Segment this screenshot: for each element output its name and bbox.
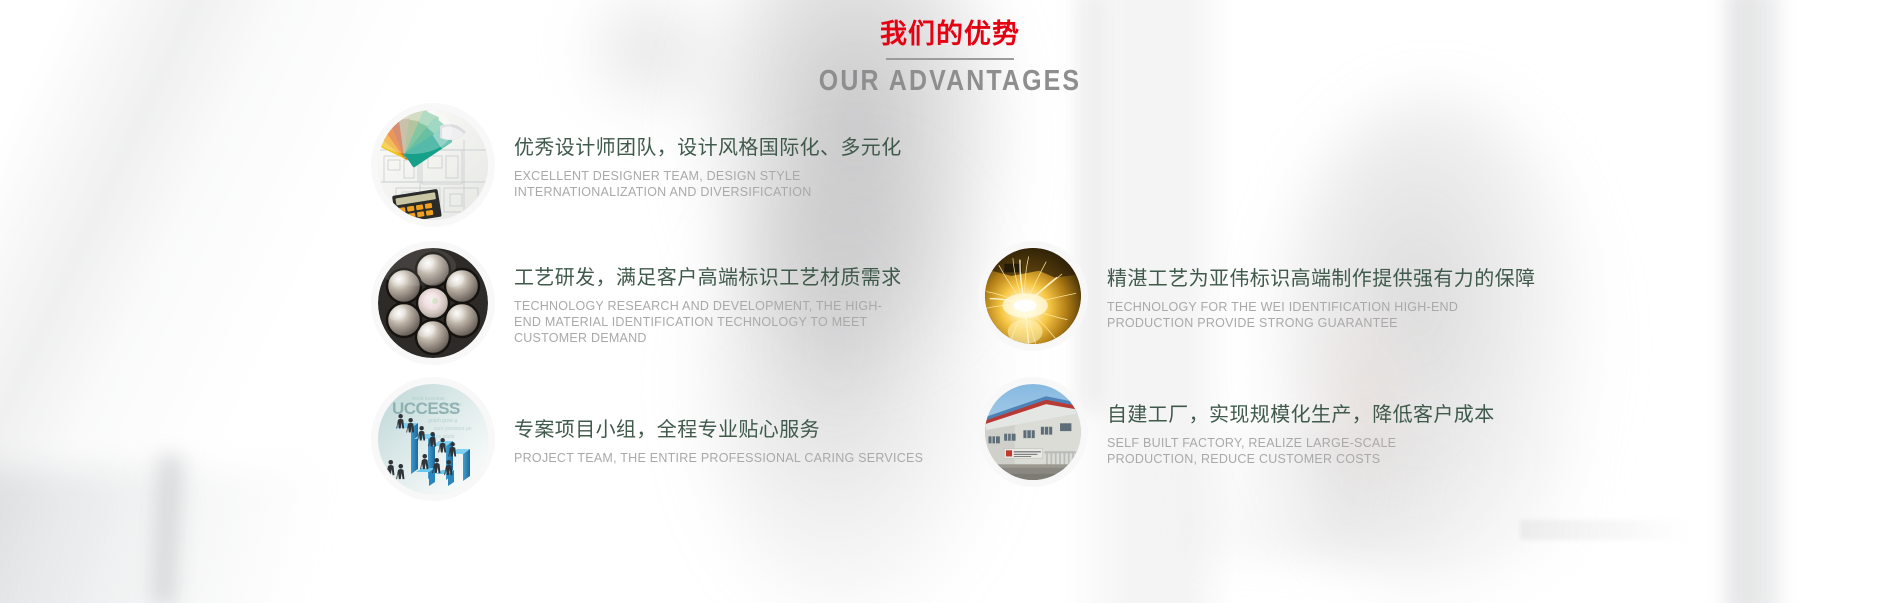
advantage-text-block: 精湛工艺为亚伟标识高端制作提供强有力的保障 TECHNOLOGY FOR THE… — [1081, 262, 1535, 331]
svg-text:sure pressure pe: sure pressure pe — [434, 426, 472, 432]
advantage-item[interactable]: trend business corporate finance fl grap… — [378, 384, 898, 494]
advantage-text-block: 优秀设计师团队，设计风格国际化、多元化 EXCELLENT DESIGNER T… — [488, 131, 902, 200]
advantage-title: 自建工厂，实现规模化生产，降低客户成本 — [1107, 400, 1495, 428]
metal-tubes-icon — [378, 248, 488, 358]
advantage-text-block: 工艺研发，满足客户高端标识工艺材质需求 TECHNOLOGY RESEARCH … — [488, 261, 902, 346]
advantage-title: 工艺研发，满足客户高端标识工艺材质需求 — [514, 263, 902, 291]
advantage-subtitle: TECHNOLOGY FOR THE WEI IDENTIFICATION HI… — [1107, 299, 1467, 331]
color-swatch-blueprint-icon — [378, 110, 488, 220]
advantage-item[interactable]: 优秀设计师团队，设计风格国际化、多元化 EXCELLENT DESIGNER T… — [378, 110, 898, 220]
title-divider — [886, 58, 1014, 60]
bar-chart-business-icon: trend business corporate finance fl grap… — [378, 384, 488, 494]
welding-sparks-icon — [985, 248, 1081, 344]
svg-text:ps statis: ps statis — [436, 434, 455, 440]
advantage-subtitle: TECHNOLOGY RESEARCH AND DEVELOPMENT, THE… — [514, 298, 886, 346]
factory-building-icon — [985, 384, 1081, 480]
advantage-text-block: 自建工厂，实现规模化生产，降低客户成本 SELF BUILT FACTORY, … — [1081, 398, 1495, 467]
advantage-subtitle: EXCELLENT DESIGNER TEAM, DESIGN STYLE IN… — [514, 168, 886, 200]
advantage-title: 精湛工艺为亚伟标识高端制作提供强有力的保障 — [1107, 264, 1535, 292]
advantage-title: 优秀设计师团队，设计风格国际化、多元化 — [514, 133, 902, 161]
advantage-item[interactable]: 自建工厂，实现规模化生产，降低客户成本 SELF BUILT FACTORY, … — [985, 384, 1505, 480]
advantage-subtitle: SELF BUILT FACTORY, REALIZE LARGE-SCALE … — [1107, 435, 1467, 467]
advantage-title: 专案项目小组，全程专业贴心服务 — [514, 415, 923, 443]
advantages-section: 我们的优势 OUR ADVANTAGES — [0, 0, 1900, 603]
section-title-chinese: 我们的优势 — [0, 18, 1900, 52]
advantage-text-block: 专案项目小组，全程专业贴心服务 PROJECT TEAM, THE ENTIRE… — [488, 413, 923, 466]
advantage-subtitle: PROJECT TEAM, THE ENTIRE PROFESSIONAL CA… — [514, 450, 923, 466]
section-title-english: OUR ADVANTAGES — [133, 64, 1767, 98]
section-header: 我们的优势 OUR ADVANTAGES — [0, 18, 1900, 98]
advantage-item[interactable]: 精湛工艺为亚伟标识高端制作提供强有力的保障 TECHNOLOGY FOR THE… — [985, 248, 1505, 344]
advantage-item[interactable]: 工艺研发，满足客户高端标识工艺材质需求 TECHNOLOGY RESEARCH … — [378, 248, 898, 358]
svg-text:graph grow g: graph grow g — [428, 418, 457, 424]
